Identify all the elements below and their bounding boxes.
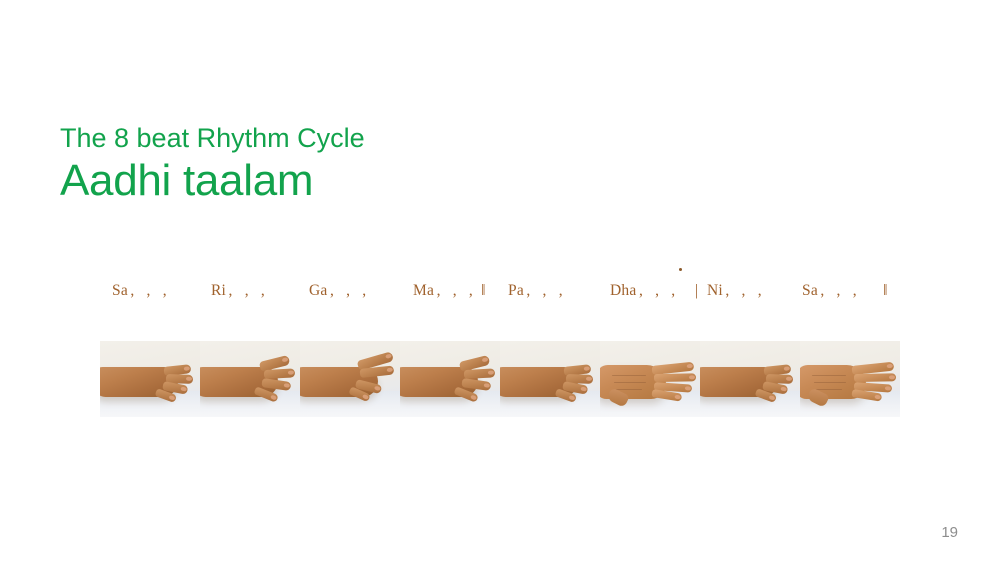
- hand-gesture-beat-4: [400, 341, 500, 417]
- hand-gesture-beat-3: [300, 341, 400, 417]
- hand-illustration: [200, 341, 300, 417]
- notation-syllable: Dha: [610, 282, 636, 299]
- notation-syllable: Ri: [211, 282, 226, 299]
- notation-beat-7: Ni, , ,: [707, 278, 766, 304]
- notation-bar-separator-2: |: [695, 278, 698, 304]
- hand-illustration: [700, 341, 800, 417]
- notation-beat-6: Dha, , ,: [610, 278, 679, 304]
- slide-canvas: The 8 beat Rhythm Cycle Aadhi taalam Sa,…: [0, 0, 1000, 563]
- hand-illustration: [600, 341, 700, 417]
- hand-illustration: [800, 341, 900, 417]
- hand-illustration: [500, 341, 600, 417]
- notation-rest-marks: , , ,: [723, 282, 766, 299]
- slide-subtitle: The 8 beat Rhythm Cycle: [60, 122, 680, 154]
- notation-beat-1: Sa, , ,: [112, 278, 171, 304]
- hand-illustration: [400, 341, 500, 417]
- hand-illustration: [300, 341, 400, 417]
- hand-gesture-beat-8: [800, 341, 900, 417]
- notation-beat-4: Ma, , ,: [413, 278, 477, 304]
- notation-beat-3: Ga, , ,: [309, 278, 370, 304]
- notation-rest-marks: , , ,: [434, 282, 477, 299]
- notation-rest-marks: , , ,: [128, 282, 171, 299]
- title-block: The 8 beat Rhythm Cycle Aadhi taalam: [60, 122, 680, 206]
- notation-bar-separator-1: ‖: [481, 278, 486, 304]
- notation-syllable: Pa: [508, 282, 524, 299]
- hand-gesture-beat-6: [600, 341, 700, 417]
- notation-rest-marks: , , ,: [818, 282, 861, 299]
- hand-illustration: [100, 341, 200, 417]
- notation-syllable: Sa: [112, 282, 128, 299]
- page-title: Aadhi taalam: [60, 156, 680, 206]
- notation-bar-separator-3: ‖: [883, 278, 888, 304]
- notation-syllable: Ga: [309, 282, 327, 299]
- notation-syllable: Sa: [802, 282, 818, 299]
- notation-rest-marks: , , ,: [327, 282, 370, 299]
- hand-gesture-strip: [100, 341, 900, 417]
- notation-rest-marks: , , ,: [524, 282, 567, 299]
- notation-beat-5: Pa, , ,: [508, 278, 567, 304]
- notation-syllable: Ni: [707, 282, 723, 299]
- notation-bindu-dot-icon: [679, 268, 682, 271]
- hand-gesture-beat-2: [200, 341, 300, 417]
- notation-row: Sa, , ,Ri, , ,Ga, , ,Ma, , ,Pa, , ,Dha, …: [100, 278, 900, 312]
- notation-syllable: Ma: [413, 282, 434, 299]
- page-number: 19: [941, 524, 958, 541]
- hand-gesture-beat-5: [500, 341, 600, 417]
- notation-rest-marks: , , ,: [636, 282, 679, 299]
- notation-beat-8: Sa, , ,: [802, 278, 861, 304]
- hand-gesture-beat-7: [700, 341, 800, 417]
- notation-rest-marks: , , ,: [226, 282, 269, 299]
- hand-gesture-beat-1: [100, 341, 200, 417]
- notation-beat-2: Ri, , ,: [211, 278, 269, 304]
